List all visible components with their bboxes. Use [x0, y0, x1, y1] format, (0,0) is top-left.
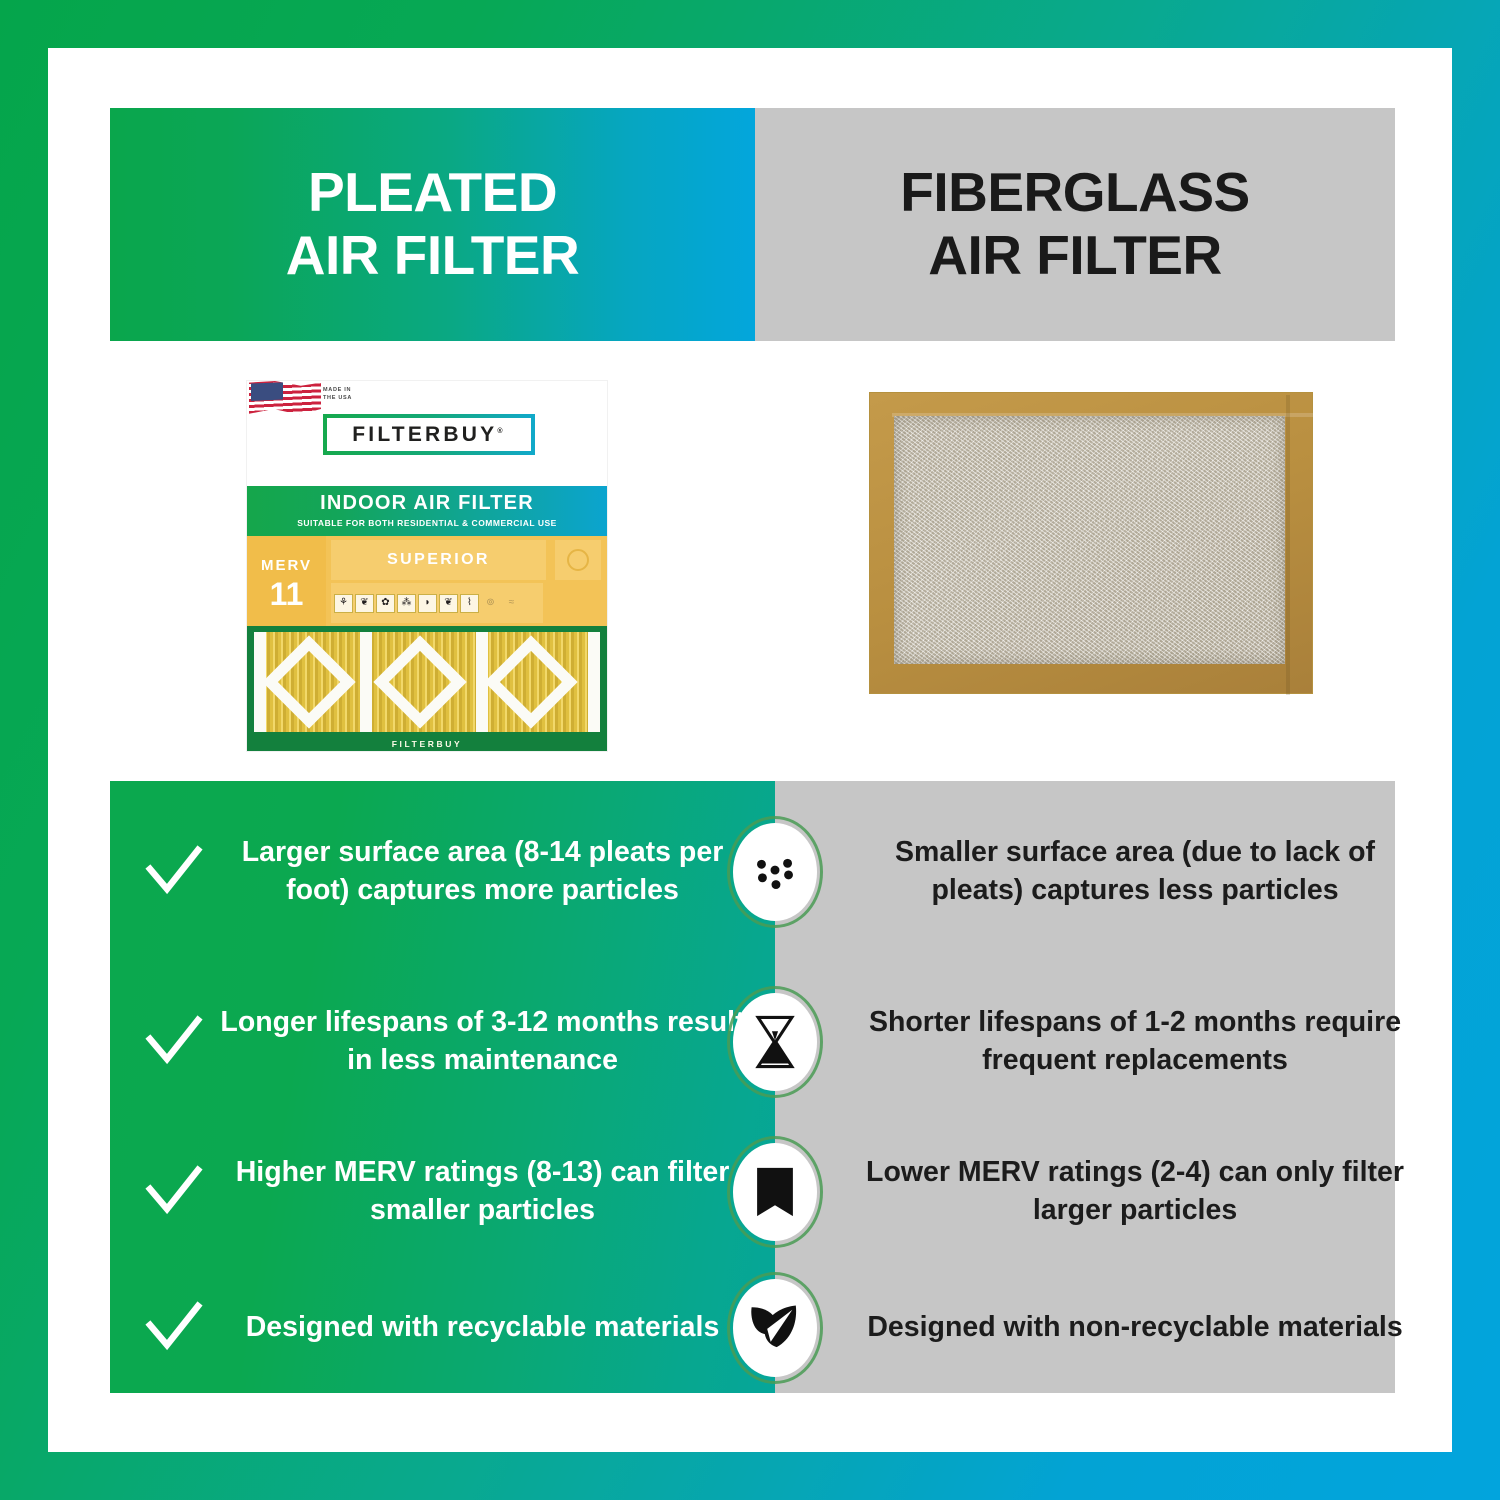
- comparison-header: PLEATED AIR FILTER FIBERGLASS AIR FILTER: [110, 108, 1395, 341]
- virus-icon: ⊚: [481, 594, 500, 613]
- bookmark-icon: [727, 1136, 823, 1248]
- support-lattice: [254, 632, 600, 732]
- comparison-row: Higher MERV ratings (8-13) can filter sm…: [110, 1121, 1395, 1263]
- ul-certification-ring: [567, 549, 589, 571]
- indoor-air-filter-subtitle: SUITABLE FOR BOTH RESIDENTIAL & COMMERCI…: [247, 515, 607, 528]
- pollen-icon: ✿: [376, 594, 395, 613]
- cardboard-frame-seam-right: [1286, 395, 1290, 695]
- header-pleated-title-line2: AIR FILTER: [110, 225, 755, 289]
- ul-certification-icon: [555, 540, 601, 580]
- header-fiberglass-panel: FIBERGLASS AIR FILTER: [755, 108, 1395, 341]
- row-fiberglass-text: Lower MERV ratings (2-4) can only filter…: [850, 1154, 1420, 1230]
- product-images-strip: MADE IN THE USA FILTERBUY® INDOOR AIR FI…: [110, 341, 1395, 781]
- pleated-filter-box-top: MADE IN THE USA FILTERBUY®: [247, 381, 607, 486]
- row-pleated-text: Higher MERV ratings (8-13) can filter sm…: [210, 1154, 755, 1230]
- pleated-footer-brand: FILTERBUY: [247, 739, 607, 749]
- registered-mark: ®: [497, 428, 505, 435]
- bacteria-icon: ◗: [418, 594, 437, 613]
- tier-label: SUPERIOR: [331, 540, 546, 580]
- badge-disc: [733, 823, 817, 921]
- brand-wordmark: FILTERBUY: [352, 423, 497, 446]
- us-flag-canton: [251, 382, 283, 401]
- made-in-usa-label: MADE IN THE USA: [323, 386, 352, 403]
- pleated-media-window: FILTERBUY: [247, 626, 607, 751]
- comparison-body: Larger surface area (8-14 pleats per foo…: [110, 781, 1395, 1393]
- dust-mop-icon: ⚘: [334, 594, 353, 613]
- header-pleated-title-line1: PLEATED: [308, 161, 557, 223]
- pleated-filter-spec-band: MERV 11 SUPERIOR ⚘ ❦ ✿ ⁂ ◗ ❦ ⌇ ⊚ ≈: [247, 536, 607, 626]
- row-fiberglass-text: Designed with non-recyclable materials: [850, 1309, 1420, 1347]
- comparison-row: Designed with recyclable materials Desig…: [110, 1263, 1395, 1393]
- comparison-row: Longer lifespans of 3-12 months result i…: [110, 963, 1395, 1121]
- header-pleated-title: PLEATED AIR FILTER: [110, 161, 755, 289]
- indoor-air-filter-title: INDOOR AIR FILTER: [247, 486, 607, 515]
- merv-label: MERV: [247, 536, 326, 574]
- row-fiberglass-text: Smaller surface area (due to lack of ple…: [850, 834, 1420, 910]
- checkmark-icon: [145, 1163, 203, 1221]
- indoor-air-filter-band: INDOOR AIR FILTER SUITABLE FOR BOTH RESI…: [247, 486, 607, 536]
- made-in-usa-line1: MADE IN: [323, 386, 352, 394]
- header-fiberglass-title-line1: FIBERGLASS: [900, 161, 1249, 223]
- dust-mite-icon: ❦: [355, 594, 374, 613]
- made-in-usa-line2: THE USA: [323, 394, 352, 402]
- checkmark-icon: [145, 843, 203, 901]
- row-fiberglass-text: Shorter lifespans of 1-2 months require …: [850, 1004, 1420, 1080]
- merv-rating-block: MERV 11: [247, 536, 326, 626]
- pet-dander-icon: ❦: [439, 594, 458, 613]
- fiberglass-filter-product-image: [870, 393, 1312, 693]
- hourglass-icon: [727, 986, 823, 1098]
- smoke-icon: ⌇: [460, 594, 479, 613]
- pleated-filter-product-image: MADE IN THE USA FILTERBUY® INDOOR AIR FI…: [247, 381, 607, 751]
- odor-icon: ≈: [502, 594, 521, 613]
- particles-icon: [727, 816, 823, 928]
- mold-spores-icon: ⁂: [397, 594, 416, 613]
- header-fiberglass-title-line2: AIR FILTER: [755, 225, 1395, 289]
- header-fiberglass-title: FIBERGLASS AIR FILTER: [755, 161, 1395, 289]
- us-flag-icon: [249, 381, 321, 421]
- checkmark-icon: [145, 1299, 203, 1357]
- capture-icons-strip: ⚘ ❦ ✿ ⁂ ◗ ❦ ⌇ ⊚ ≈: [331, 583, 543, 623]
- fiberglass-media-icon: [894, 416, 1285, 664]
- filterbuy-logo-text: FILTERBUY®: [352, 423, 505, 447]
- row-pleated-text: Longer lifespans of 3-12 months result i…: [210, 1004, 755, 1080]
- merv-value: 11: [247, 574, 326, 610]
- badge-disc: [733, 1279, 817, 1377]
- leaf-icon: [727, 1272, 823, 1384]
- row-pleated-text: Designed with recyclable materials: [210, 1309, 755, 1347]
- badge-disc: [733, 1143, 817, 1241]
- header-pleated-panel: PLEATED AIR FILTER: [110, 108, 755, 341]
- comparison-row: Larger surface area (8-14 pleats per foo…: [110, 781, 1395, 963]
- infographic-canvas: PLEATED AIR FILTER FIBERGLASS AIR FILTER…: [110, 108, 1395, 1393]
- badge-disc: [733, 993, 817, 1091]
- checkmark-icon: [145, 1013, 203, 1071]
- row-pleated-text: Larger surface area (8-14 pleats per foo…: [210, 834, 755, 910]
- filterbuy-logo-box: FILTERBUY®: [323, 414, 535, 455]
